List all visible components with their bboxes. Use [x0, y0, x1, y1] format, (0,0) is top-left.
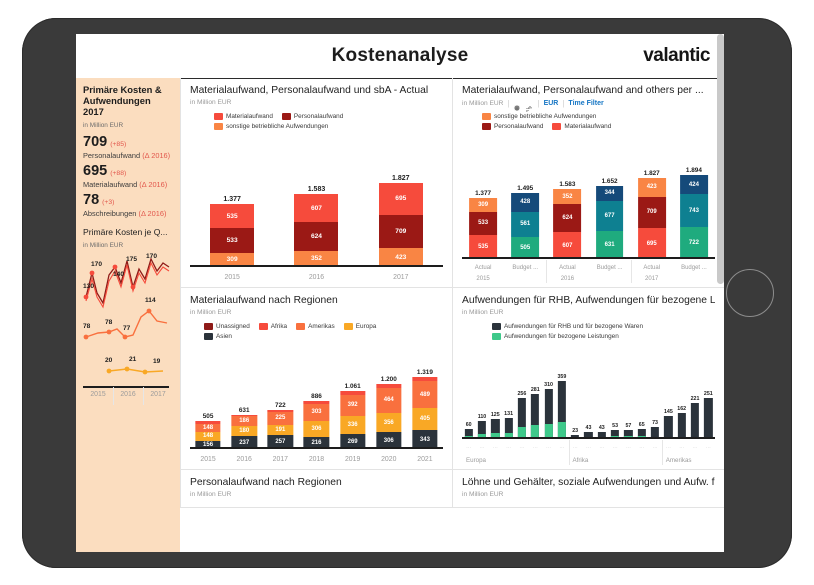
spark-label: 78 [83, 323, 90, 330]
legend-item: Aufwendungen für bezogene Leistungen [492, 333, 715, 340]
legend-item: sonstige betriebliche Aufwendungen [214, 123, 443, 130]
app-header: Kostenanalyse valantic [76, 34, 724, 79]
legend-label: Materialaufwand [564, 123, 611, 130]
legend-label: Amerikas [308, 323, 335, 330]
legend-item: Materialaufwand [552, 123, 611, 130]
spark-cat: 2016 [113, 391, 143, 398]
spark-label: 19 [153, 358, 160, 365]
x-axis [190, 265, 443, 267]
legend-swatch [344, 323, 353, 330]
bar-category-label: 2016 [226, 456, 262, 463]
chart-p1[interactable]: 1.37720153095335351.58320163526246071.82… [190, 173, 443, 283]
bar-segment[interactable]: 709 [638, 197, 666, 228]
bar-column[interactable] [662, 416, 675, 439]
bar-value-label: 145 [662, 409, 675, 415]
bar-category-label: 2020 [371, 456, 407, 463]
bar-segment[interactable]: 533 [469, 212, 497, 236]
bar-value-label: 281 [529, 387, 542, 393]
legend-item: Unassigned [204, 323, 250, 330]
panel-materialaufwand-actual[interactable]: Materialaufwand, Personalaufwand und sbA… [180, 78, 452, 288]
legend-label: Europa [356, 323, 377, 330]
panel-title: Materialaufwand, Personalaufwand und sbA… [190, 85, 443, 96]
x-axis [462, 257, 715, 259]
kpi-abschreibungen: 78(+3) Abschreibungen (Δ 2016) [83, 191, 173, 218]
x-tick: ··· [502, 445, 515, 451]
bar-segment[interactable]: 428 [511, 193, 539, 212]
bar-column[interactable]: 607624352 [546, 189, 588, 259]
sidebar-section-title: Primäre Kosten je Q... [83, 227, 173, 237]
legend-item: Europa [344, 323, 377, 330]
panel-title: Personalaufwand nach Regionen [190, 477, 443, 488]
spark-label: 20 [105, 357, 112, 364]
x-tick: ··· [595, 445, 608, 451]
x-tick: ··· [635, 445, 648, 451]
bar-value-label: 251 [702, 391, 715, 397]
legend-item: Personalaufwand [482, 123, 543, 130]
spark-label: 78 [105, 319, 112, 326]
x-tick: ··· [582, 445, 595, 451]
toolbar-divider: | [562, 99, 564, 108]
group-divider [546, 260, 547, 283]
spark-label: 130 [83, 283, 94, 290]
bar-value-label: 23 [569, 428, 582, 434]
x-tick: ··· [529, 445, 542, 451]
panel-title: Materialaufwand, Personalaufwand and oth… [462, 85, 715, 96]
panel-toolbar: in Million EUR | | EUR | Time Filter [462, 99, 715, 108]
spark-label: 170 [146, 253, 157, 260]
x-tick: ··· [542, 445, 555, 451]
bar-value-label: 110 [475, 414, 488, 420]
panel-materialaufwand-regionen[interactable]: Materialaufwand nach Regionen in Million… [180, 288, 452, 470]
bar-value-label: 162 [675, 406, 688, 412]
bar-column[interactable] [515, 398, 528, 439]
spark-cat: 2017 [143, 391, 173, 398]
bar-value-label: 359 [555, 374, 568, 380]
bar-segment[interactable]: 505 [511, 237, 539, 259]
panel-title: Aufwendungen für RHB, Aufwendungen für b… [462, 295, 715, 306]
bar-value-label: 131 [502, 411, 515, 417]
bar-category-label: 2015 [190, 274, 274, 281]
bar-value-label: 310 [542, 382, 555, 388]
bar-column[interactable]: 505561428 [504, 193, 546, 259]
bar-segment[interactable]: 489 [412, 381, 437, 408]
bar-value-label: 125 [489, 412, 502, 418]
kpi-value: 78 [83, 192, 99, 208]
legend-item: Asien [204, 333, 443, 340]
bar-group-label: 2016 [546, 276, 588, 282]
bar-category-label: 2017 [262, 456, 298, 463]
bar-column[interactable]: 306356464 [371, 384, 407, 450]
kpi-materialaufwand: 695(+88) Materialaufwand (Δ 2016) [83, 162, 173, 189]
legend-label: sonstige betriebliche Aufwendungen [226, 123, 328, 130]
bar-column[interactable] [688, 403, 701, 439]
bar-segment[interactable] [412, 377, 437, 381]
bar-segment[interactable]: 191 [268, 425, 293, 435]
x-tick: ··· [515, 445, 528, 451]
kpi-value: 709 [83, 134, 107, 150]
legend-label: Personalaufwand [294, 113, 343, 120]
bar-segment[interactable]: 631 [596, 231, 624, 259]
legend-swatch [204, 333, 213, 340]
bar-column[interactable] [529, 394, 542, 439]
panel-unit: in Million EUR [190, 309, 443, 316]
bar-column[interactable] [502, 418, 515, 439]
bar-value-label: 73 [648, 420, 661, 426]
legend-swatch [492, 323, 501, 330]
bar-category-label: Actual [462, 265, 504, 271]
bar-column[interactable]: 216306303 [298, 401, 334, 449]
kpi-delta: (+88) [110, 170, 126, 177]
group-divider [631, 260, 632, 283]
x-tick: ··· [475, 445, 488, 451]
bar-segment[interactable]: 695 [638, 228, 666, 259]
bar-total-label: 886 [298, 393, 334, 400]
kpi-delta: (+3) [102, 199, 114, 206]
bar-category-label: Actual [546, 265, 588, 271]
panels-grid: Materialaufwand, Personalaufwand und sbA… [180, 78, 724, 552]
bar-group-label: 2015 [462, 276, 504, 282]
bar-total-label: 1.200 [371, 376, 407, 383]
legend-label: Personalaufwand [494, 123, 543, 130]
bar-column[interactable]: 695709423 [631, 178, 673, 259]
brand-logo: valantic [643, 45, 710, 67]
panel-loehne[interactable]: Löhne und Gehälter, soziale Aufwendungen… [452, 470, 724, 508]
bar-segment[interactable]: 535 [469, 235, 497, 259]
panel-title: Materialaufwand nach Regionen [190, 295, 443, 306]
bar-segment[interactable]: 225 [268, 412, 293, 424]
bar-segment[interactable]: 344 [596, 186, 624, 201]
spark-axis [83, 386, 169, 388]
spark-label: 21 [129, 356, 136, 363]
bar-segment[interactable]: 405 [412, 408, 437, 430]
bar-segment[interactable] [232, 415, 257, 417]
bar-total-label: 1.583 [546, 181, 588, 188]
bar-value-label: 60 [462, 422, 475, 428]
bar-segment[interactable]: 624 [554, 204, 582, 232]
legend-label: Aufwendungen für RHB und für bezogene Wa… [504, 323, 643, 330]
bar-total-label: 1.652 [589, 178, 631, 185]
legend-item: Aufwendungen für RHB und für bezogene Wa… [492, 323, 715, 330]
x-tick: ··· [462, 445, 475, 451]
bar-segment[interactable]: 677 [596, 201, 624, 231]
scrollbar-thumb[interactable] [717, 34, 724, 284]
bar-segment[interactable]: 303 [304, 404, 329, 421]
bar-segment[interactable]: 423 [638, 178, 666, 197]
bar-segment[interactable]: 148 [195, 432, 220, 440]
bar-segment[interactable]: 352 [554, 189, 582, 205]
legend-swatch [482, 113, 491, 120]
bar-column[interactable]: 722743424 [673, 175, 715, 259]
bar-column[interactable]: 237180186 [226, 415, 262, 449]
sidebar-unit: in Million EUR [83, 122, 173, 129]
legend-swatch [214, 123, 223, 130]
legend-item: Materialaufwand [214, 113, 273, 120]
sidebar-title: Primäre Kosten & Aufwendungen 2017 [83, 84, 173, 117]
x-tick: ··· [662, 445, 675, 451]
bar-segment[interactable]: 309 [469, 198, 497, 212]
group-divider [569, 440, 570, 465]
bar-segment[interactable]: 423 [379, 248, 423, 267]
legend-swatch [482, 123, 491, 130]
panel-personalaufwand-regionen[interactable]: Personalaufwand nach Regionen in Million… [180, 470, 452, 508]
kpi-delta-label: (Δ 2016) [138, 209, 166, 218]
x-axis [190, 447, 443, 449]
x-tick: ··· [702, 445, 715, 451]
kpi-personalaufwand: 709(+85) Personalaufwand (Δ 2016) [83, 133, 173, 160]
bar-value-label: 53 [608, 423, 621, 429]
gear-icon[interactable] [513, 100, 521, 108]
currency-link[interactable]: EUR [544, 100, 559, 107]
legend-label: Materialaufwand [226, 113, 273, 120]
bar-total-label: 1.495 [504, 185, 546, 192]
bar-group-label: Europa [462, 457, 569, 464]
group-divider [662, 440, 663, 465]
bar-column[interactable]: 535533309 [462, 198, 504, 259]
kpi-delta-label: (Δ 2016) [139, 180, 167, 189]
bar-segment[interactable]: 336 [340, 416, 365, 434]
spark-label: 114 [145, 297, 156, 304]
bar-category-label: 2016 [274, 274, 358, 281]
bar-segment[interactable]: 709 [379, 215, 423, 248]
kpi-label: Materialaufwand (Δ 2016) [83, 180, 173, 189]
spark-cat: 2015 [83, 391, 113, 398]
bar-category-label: Budget ... [504, 265, 546, 271]
sidebar: Primäre Kosten & Aufwendungen 2017 in Mi… [76, 78, 180, 552]
bar-total-label: 1.827 [359, 175, 443, 182]
bar-category-label: 2017 [359, 274, 443, 281]
legend-swatch [552, 123, 561, 130]
kpi-label: Personalaufwand (Δ 2016) [83, 151, 173, 160]
bar-segment[interactable]: 722 [680, 227, 708, 259]
x-tick: ··· [688, 445, 701, 451]
legend-item: Afrika [259, 323, 287, 330]
bar-segment[interactable] [376, 384, 401, 388]
x-axis [462, 437, 715, 439]
legend-swatch [296, 323, 305, 330]
bar-total-label: 1.583 [274, 186, 358, 193]
bar-segment[interactable]: 306 [304, 421, 329, 438]
bar-column[interactable]: 423709695 [359, 183, 443, 267]
toolbar-divider: | [537, 99, 539, 108]
bar-total-label: 1.377 [190, 196, 274, 203]
bar-segment[interactable]: 392 [340, 395, 365, 416]
spark-label: 77 [123, 325, 130, 332]
bar-category-label: Actual [631, 265, 673, 271]
bar-category-label: 2015 [190, 456, 226, 463]
bar-value-label: 57 [622, 423, 635, 429]
bar-total-label: 1.061 [335, 383, 371, 390]
bar-segment[interactable]: 180 [232, 426, 257, 436]
bar-segment[interactable]: 356 [376, 413, 401, 432]
bar-column[interactable] [489, 419, 502, 439]
legend: Unassigned Afrika Amerikas Europa Asien [204, 323, 443, 340]
chart-p4[interactable]: 60···110···125···131···256···281···310··… [462, 371, 715, 465]
bar-value-label: 65 [635, 422, 648, 428]
bar-segment-green[interactable] [558, 422, 566, 439]
bar-column[interactable]: 309533535 [190, 204, 274, 267]
legend-swatch [282, 113, 291, 120]
legend-label: Afrika [271, 323, 287, 330]
legend-swatch [492, 333, 501, 340]
bar-value-label: 43 [595, 425, 608, 431]
bar-group-label: 2017 [631, 276, 673, 282]
bar-value-label: 256 [515, 391, 528, 397]
bar-segment[interactable]: 695 [379, 183, 423, 215]
bar-category-label: 2018 [298, 456, 334, 463]
bar-segment[interactable]: 561 [511, 212, 539, 237]
bar-column[interactable]: 631677344 [589, 186, 631, 259]
bar-column[interactable]: 156148148 [190, 421, 226, 449]
panel-unit: in Million EUR [190, 491, 443, 498]
bar-total-label: 505 [190, 413, 226, 420]
bar-column[interactable]: 269336392 [335, 391, 371, 449]
bar-column[interactable] [555, 381, 568, 439]
tablet-screen: Kostenanalyse valantic Primäre Kosten & … [76, 34, 724, 552]
bar-column[interactable] [702, 398, 715, 439]
kpi-label: Abschreibungen (Δ 2016) [83, 209, 173, 218]
bar-segment[interactable]: 186 [232, 416, 257, 426]
bar-total-label: 1.827 [631, 170, 673, 177]
x-tick: ··· [622, 445, 635, 451]
bar-segment[interactable] [340, 391, 365, 394]
bar-segment[interactable]: 424 [680, 175, 708, 194]
bar-total-label: 631 [226, 407, 262, 414]
panel-actual-vs-budget[interactable]: Materialaufwand, Personalaufwand and oth… [452, 78, 724, 288]
legend-label: sonstige betriebliche Aufwendungen [494, 113, 596, 120]
chart-p2[interactable]: 5355333091.377Actual5055614281.495Budget… [462, 165, 715, 283]
legend-swatch [214, 113, 223, 120]
x-tick: ··· [555, 445, 568, 451]
bar-segment[interactable]: 607 [294, 194, 338, 222]
legend: Aufwendungen für RHB und für bezogene Wa… [492, 323, 715, 340]
panel-title: Löhne und Gehälter, soziale Aufwendungen… [462, 477, 715, 488]
legend: sonstige betriebliche Aufwendungen Perso… [482, 113, 715, 130]
panel-unit: in Million EUR [462, 491, 715, 498]
page-title: Kostenanalyse [76, 45, 724, 67]
legend: Materialaufwand Personalaufwand sonstige… [214, 113, 443, 130]
legend-item: Personalaufwand [282, 113, 343, 120]
bar-segment[interactable]: 464 [376, 388, 401, 413]
panel-rhb[interactable]: Aufwendungen für RHB, Aufwendungen für b… [452, 288, 724, 470]
x-tick: ··· [675, 445, 688, 451]
toolbar-divider: | [507, 99, 509, 108]
spark-line-orange [86, 311, 167, 337]
bar-segment[interactable] [304, 401, 329, 404]
kpi-delta-label: (Δ 2016) [142, 151, 170, 160]
spark-label: 170 [91, 261, 102, 268]
legend-swatch [259, 323, 268, 330]
bar-segment[interactable]: 533 [210, 228, 254, 253]
bar-total-label: 1.319 [407, 369, 443, 376]
bar-group-label: Afrika [569, 457, 662, 464]
bar-segment[interactable]: 148 [195, 424, 220, 432]
bar-category-label: 2019 [335, 456, 371, 463]
x-tick: ··· [489, 445, 502, 451]
x-tick: ··· [648, 445, 661, 451]
bar-column[interactable]: 257191225 [262, 410, 298, 449]
tablet-frame: Kostenanalyse valantic Primäre Kosten & … [22, 18, 792, 568]
panel-unit: in Million EUR [190, 99, 443, 106]
chart-p3[interactable]: 1561481485052015237180186631201625719122… [190, 367, 443, 465]
spark-label: 175 [126, 256, 137, 263]
bar-segment[interactable]: 624 [294, 222, 338, 251]
bar-category-label: 2021 [407, 456, 443, 463]
legend-item: sonstige betriebliche Aufwendungen [482, 113, 715, 120]
bar-segment[interactable]: 343 [412, 430, 437, 449]
bar-segment[interactable] [195, 421, 220, 424]
bar-segment[interactable]: 535 [210, 204, 254, 229]
panel-unit: in Million EUR [462, 309, 715, 316]
bar-column[interactable]: 352624607 [274, 194, 358, 267]
legend-label: Asien [216, 333, 232, 340]
x-tick: ··· [569, 445, 582, 451]
bar-total-label: 722 [262, 402, 298, 409]
panel-unit: in Million EUR [462, 100, 503, 107]
dashboard-content: Primäre Kosten & Aufwendungen 2017 in Mi… [76, 78, 724, 552]
bar-column[interactable] [475, 421, 488, 439]
legend-label: Unassigned [216, 323, 250, 330]
spark-line-yellow [109, 369, 163, 372]
sidebar-section-unit: in Million EUR [83, 242, 173, 249]
bar-value-label: 221 [688, 396, 701, 402]
drill-icon[interactable] [525, 100, 533, 108]
bar-segment[interactable] [268, 410, 293, 413]
bar-column[interactable]: 343405489 [407, 377, 443, 449]
bar-total-label: 1.894 [673, 167, 715, 174]
bar-column[interactable] [675, 413, 688, 439]
sparkline-chart[interactable]: 130 170 140 175 170 78 78 77 114 20 21 1… [83, 253, 173, 428]
x-tick: ··· [608, 445, 621, 451]
bar-segment[interactable]: 607 [554, 232, 582, 259]
bar-category-label: Budget ... [673, 265, 715, 271]
time-filter-link[interactable]: Time Filter [568, 100, 603, 107]
legend-label: Aufwendungen für bezogene Leistungen [504, 333, 619, 340]
legend-swatch [204, 323, 213, 330]
kpi-value: 695 [83, 163, 107, 179]
bar-segment[interactable]: 743 [680, 194, 708, 227]
home-button[interactable] [726, 269, 774, 317]
legend-item: Amerikas [296, 323, 335, 330]
kpi-delta: (+85) [110, 141, 126, 148]
bar-category-label: Budget ... [589, 265, 631, 271]
bar-group-label: Amerikas [662, 457, 715, 464]
scrollbar-track[interactable] [717, 34, 724, 552]
bar-total-label: 1.377 [462, 190, 504, 197]
bar-value-label: 43 [582, 425, 595, 431]
bar-column[interactable] [542, 389, 555, 439]
spark-label: 140 [113, 271, 124, 278]
